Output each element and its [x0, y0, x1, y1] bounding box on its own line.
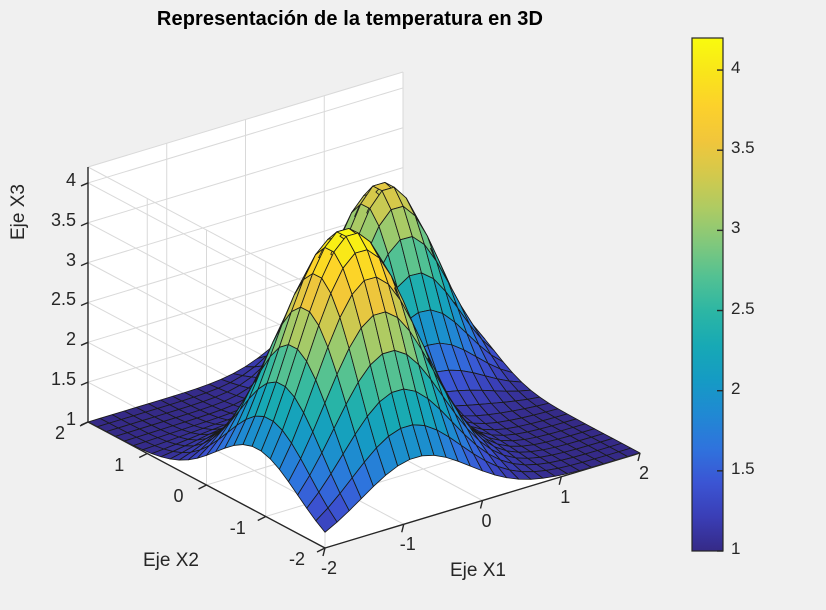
tick-label-x3-1: 1.5 [0, 369, 76, 390]
matlab-figure-window: Representación de la temperatura en 3D E… [0, 0, 826, 610]
tick-label-x1-4: 2 [604, 463, 684, 484]
colorbar-tick-label-3: 2.5 [731, 299, 755, 319]
axis-label-x2: Eje X2 [143, 550, 199, 572]
colorbar-tick-label-5: 3.5 [731, 138, 755, 158]
tick-label-x2-0: 2 [20, 423, 100, 444]
tick-label-x1-2: 0 [447, 511, 527, 532]
tick-label-x2-3: -1 [198, 518, 278, 539]
surface-plot-canvas [0, 0, 826, 610]
colorbar[interactable] [692, 38, 723, 551]
axis-label-x1: Eje X1 [450, 560, 506, 582]
tick-label-x2-2: 0 [139, 486, 219, 507]
colorbar-tick-label-2: 2 [731, 379, 740, 399]
tick-label-x1-1: -1 [368, 534, 448, 555]
tick-label-x3-4: 3 [0, 250, 76, 271]
tick-label-x1-0: -2 [289, 558, 369, 579]
colorbar-tick-label-1: 1.5 [731, 459, 755, 479]
tick-label-x1-3: 1 [525, 487, 605, 508]
colorbar-tick-label-6: 4 [731, 58, 740, 78]
colorbar-tick-label-4: 3 [731, 218, 740, 238]
tick-label-x3-2: 2 [0, 329, 76, 350]
tick-label-x3-6: 4 [0, 170, 76, 191]
colorbar-tick-label-0: 1 [731, 539, 740, 559]
tick-label-x3-3: 2.5 [0, 289, 76, 310]
tick-label-x2-1: 1 [79, 455, 159, 476]
tick-label-x3-5: 3.5 [0, 210, 76, 231]
